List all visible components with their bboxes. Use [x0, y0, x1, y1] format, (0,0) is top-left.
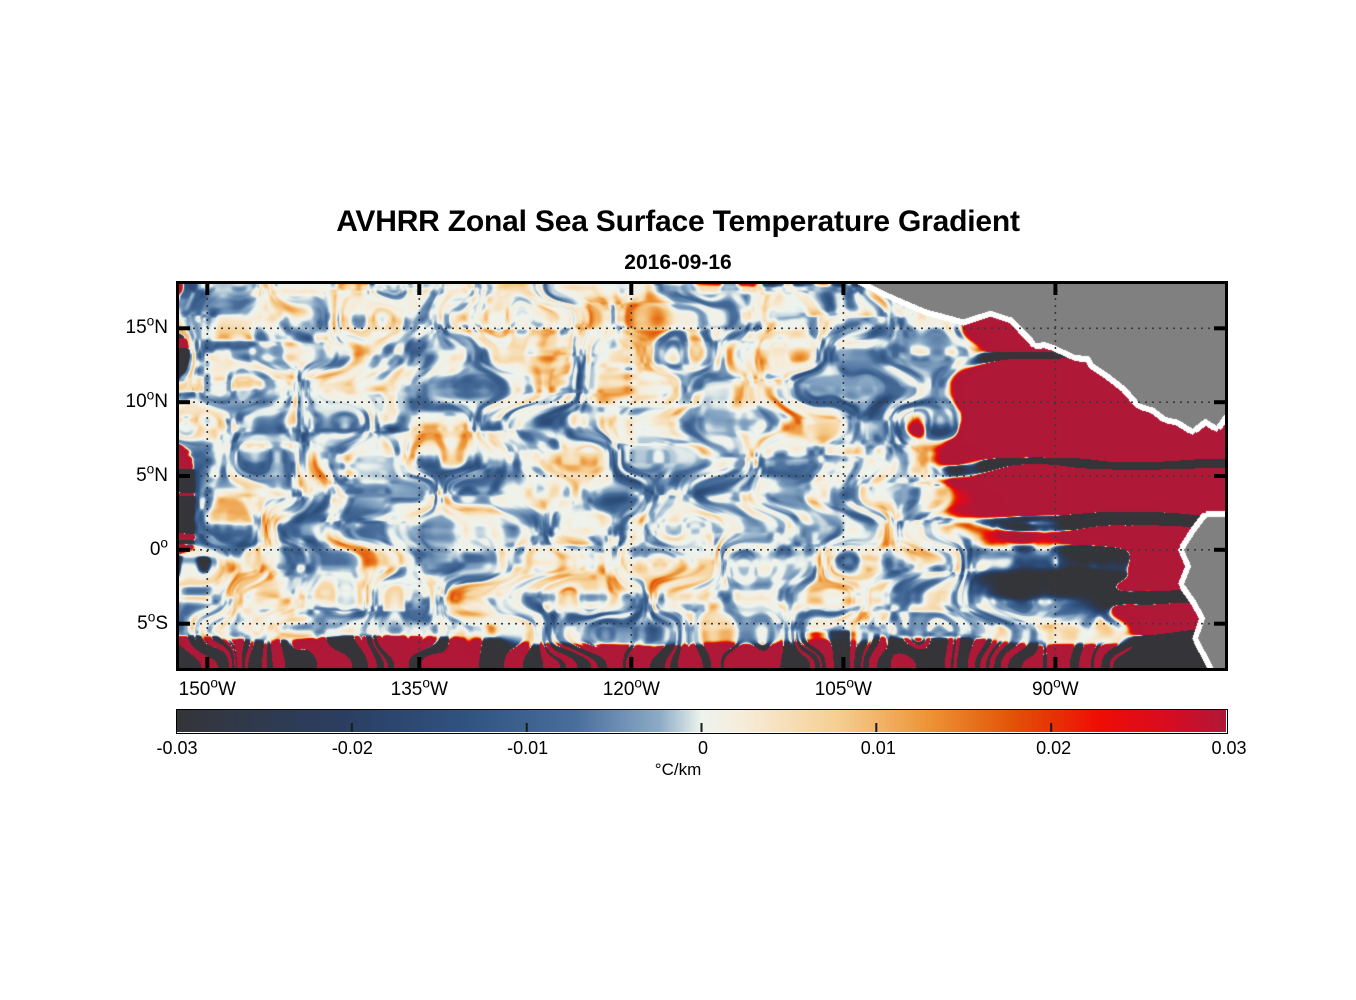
x-axis-tick-labels: 150oW135oW120oW105oW90oW: [176, 679, 1228, 707]
colorbar-tick-label: 0.02: [984, 738, 1124, 759]
colorbar-tick-label: 0: [633, 738, 773, 759]
figure-canvas: AVHRR Zonal Sea Surface Temperature Grad…: [0, 0, 1356, 1000]
y-tick-label: 5oS: [102, 613, 168, 635]
map-plot-area[interactable]: [176, 281, 1228, 671]
y-axis-tick-labels: 15oN10oN5oN0o5oS: [98, 281, 168, 671]
y-tick-label: 0o: [102, 539, 168, 561]
x-tick-label: 150oW: [147, 679, 267, 701]
colorbar-gradient: [177, 710, 1226, 732]
colorbar-tick-label: 0.01: [808, 738, 948, 759]
x-tick-label: 135oW: [359, 679, 479, 701]
colorbar-tick-label: 0.03: [1159, 738, 1299, 759]
colorbar[interactable]: [176, 709, 1228, 734]
x-tick-label: 120oW: [571, 679, 691, 701]
colorbar-unit-label: °C/km: [0, 760, 1356, 780]
y-tick-label: 5oN: [102, 465, 168, 487]
x-tick-label: 90oW: [995, 679, 1115, 701]
page-title: AVHRR Zonal Sea Surface Temperature Grad…: [0, 205, 1356, 239]
y-tick-label: 10oN: [102, 391, 168, 413]
colorbar-tick-label: -0.03: [107, 738, 247, 759]
colorbar-tick-label: -0.01: [458, 738, 598, 759]
sst-gradient-heatmap: [179, 284, 1225, 668]
x-tick-label: 105oW: [783, 679, 903, 701]
y-tick-label: 15oN: [102, 317, 168, 339]
colorbar-tick-label: -0.02: [282, 738, 422, 759]
figure-subtitle-date: 2016-09-16: [0, 251, 1356, 275]
